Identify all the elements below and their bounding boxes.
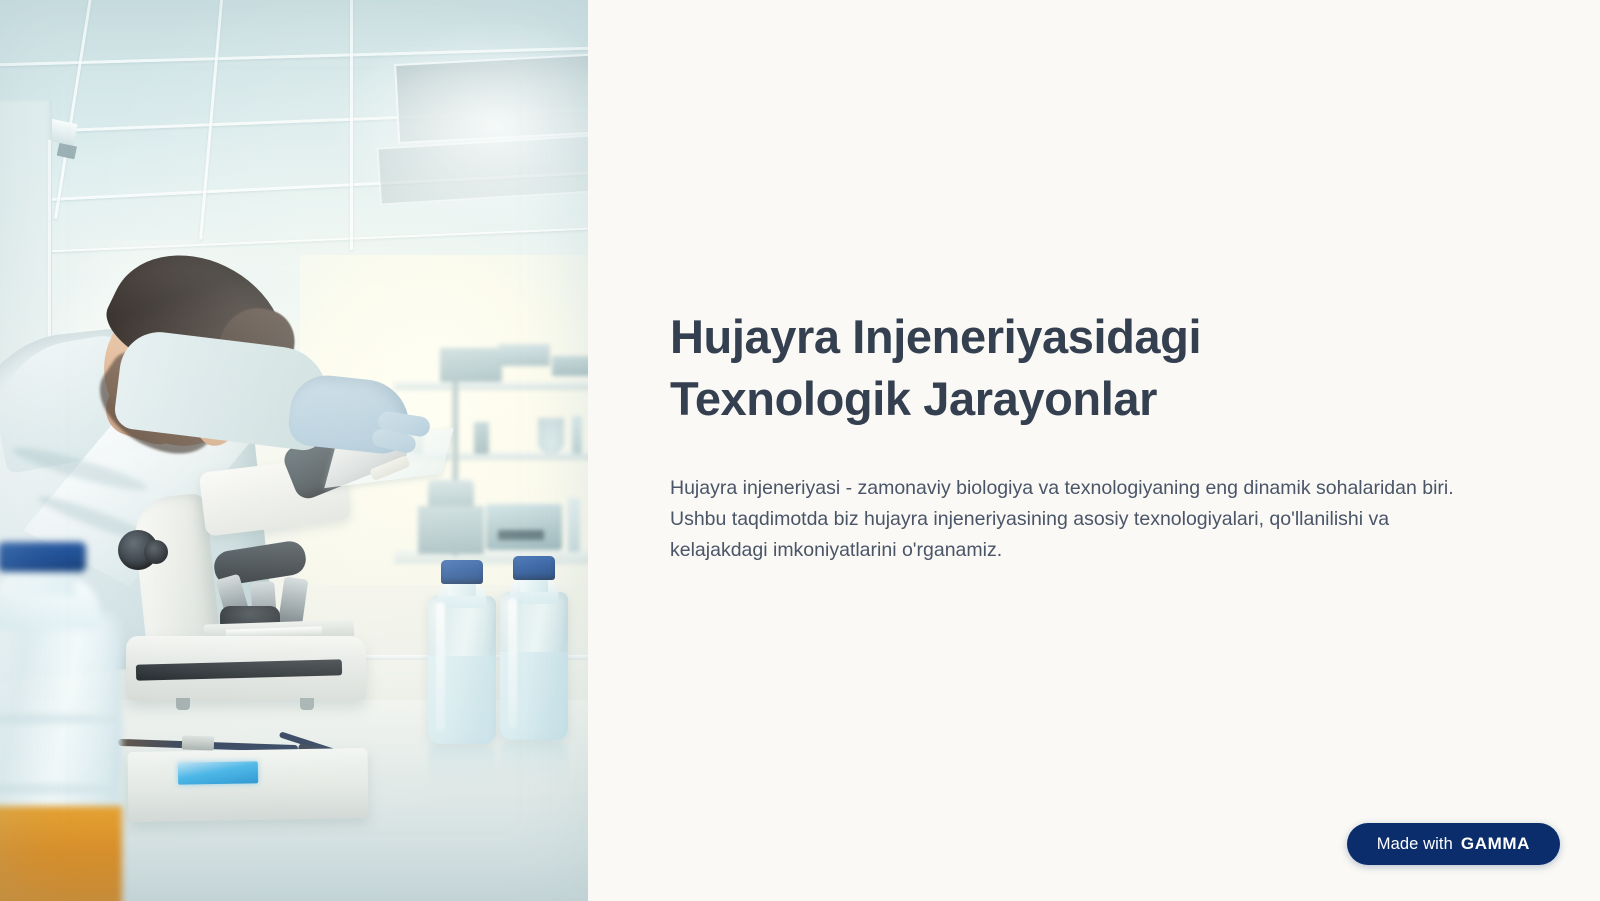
bottle-highlight [508,598,517,728]
microscope-foot [176,698,190,710]
slide-body-text: Hujayra injeneriyasi - zamonaviy biologi… [670,473,1460,565]
amber-liquid [0,806,122,901]
bottle-highlight [436,602,445,732]
microscope-foot [300,698,314,710]
presentation-slide: Hujayra Injeneriyasidagi Texnologik Jara… [0,0,1600,901]
content-inner: Hujayra Injeneriyasidagi Texnologik Jara… [670,306,1470,566]
lab-printer [486,504,562,550]
cable-connector [182,735,214,750]
glass-funnel [538,418,564,454]
made-with-gamma-badge[interactable]: Made with GAMMA [1347,823,1560,865]
shelf-board [394,382,588,390]
bench-device [127,748,368,822]
bottle-reflection [428,746,496,788]
lab-equipment [498,344,550,366]
slide-title: Hujayra Injeneriyasidagi Texnologik Jara… [670,306,1270,429]
badge-made-with-label: Made with [1377,835,1453,854]
lab-equipment [428,480,474,508]
bottle-cap [441,560,483,584]
lcd-screen [178,761,258,784]
laboratory-photo [0,0,588,901]
reagent-bottle [500,556,568,786]
test-tube [572,416,582,454]
ceiling-light-glow [330,20,588,230]
lab-instrument [418,506,484,554]
foreground-bottle-cap [0,542,86,572]
content-panel: Hujayra Injeneriyasidagi Texnologik Jara… [588,0,1600,901]
lab-equipment [440,348,502,382]
reagent-bottle [428,560,496,790]
fine-focus-knob [144,540,168,564]
bottle-cap [513,556,555,580]
test-tube [568,498,580,552]
gamma-wordmark: GAMMA [1461,834,1530,854]
foreground-bottle [0,556,130,901]
lab-container [474,422,489,454]
bottle-reflection [500,742,568,784]
lab-equipment [552,356,588,376]
